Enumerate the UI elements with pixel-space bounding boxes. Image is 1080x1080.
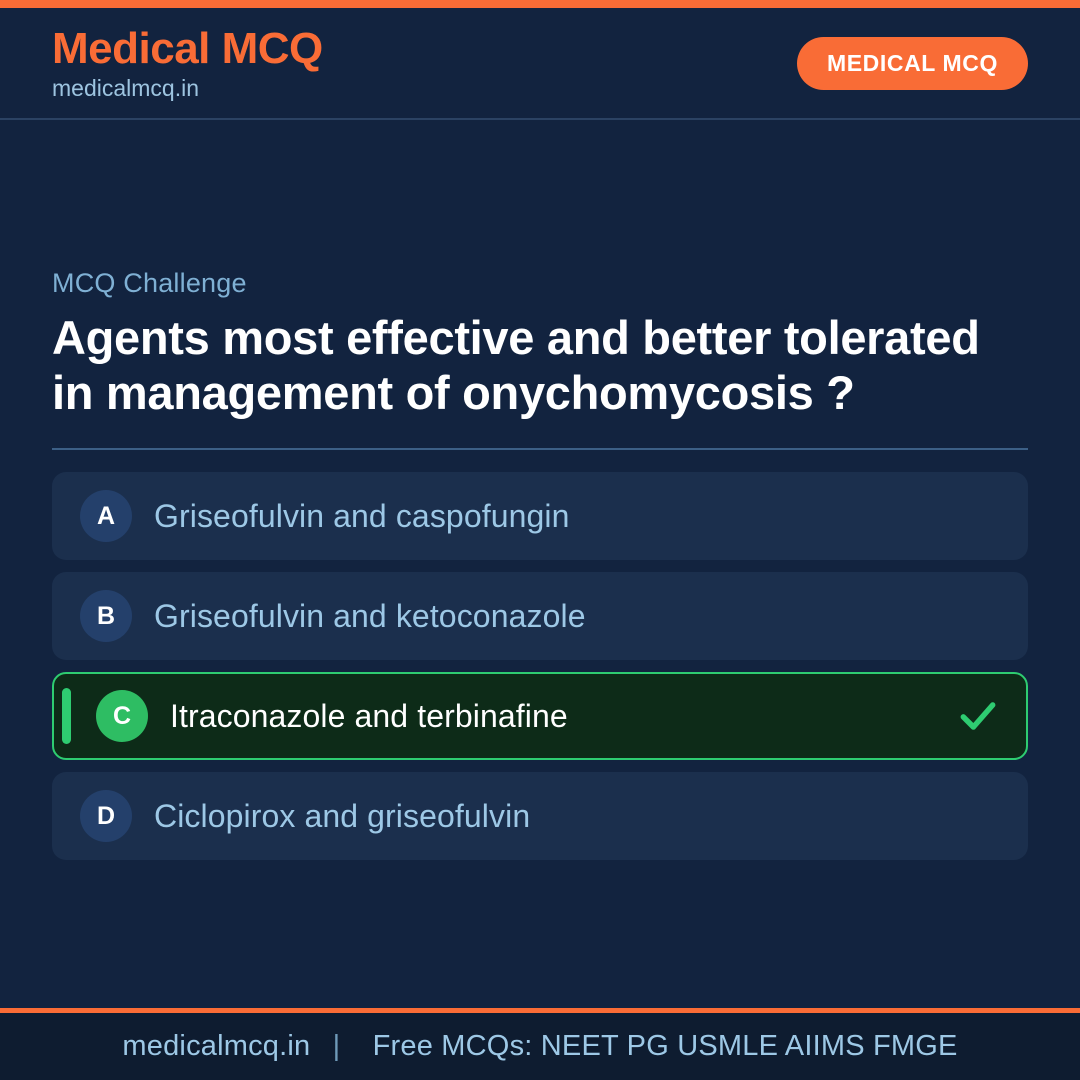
option-b-label: Griseofulvin and ketoconazole bbox=[154, 598, 1000, 635]
brand-title: Medical MCQ bbox=[52, 27, 323, 71]
mcq-card: Medical MCQ medicalmcq.in MEDICAL MCQ MC… bbox=[0, 0, 1080, 1080]
footer-tagline: Free MCQs: NEET PG USMLE AIIMS FMGE bbox=[363, 1030, 958, 1062]
top-spacer bbox=[52, 120, 1028, 268]
footer-site: medicalmcq.in bbox=[122, 1030, 310, 1062]
eyebrow-label: MCQ Challenge bbox=[52, 268, 1028, 299]
option-d-letter: D bbox=[80, 790, 132, 842]
option-a-letter: A bbox=[80, 490, 132, 542]
brand-badge: MEDICAL MCQ bbox=[797, 37, 1028, 90]
option-a-label: Griseofulvin and caspofungin bbox=[154, 498, 1000, 535]
footer-separator: | bbox=[319, 1030, 355, 1062]
option-b[interactable]: B Griseofulvin and ketoconazole bbox=[52, 572, 1028, 660]
option-c-letter: C bbox=[96, 690, 148, 742]
question-text: Agents most effective and better tolerat… bbox=[52, 311, 1028, 420]
header-bar: Medical MCQ medicalmcq.in MEDICAL MCQ bbox=[0, 8, 1080, 120]
question-divider bbox=[52, 448, 1028, 450]
option-a[interactable]: A Griseofulvin and caspofungin bbox=[52, 472, 1028, 560]
brand-subtitle: medicalmcq.in bbox=[52, 77, 323, 100]
correct-accent-bar bbox=[62, 688, 71, 744]
option-b-letter: B bbox=[80, 590, 132, 642]
option-c-label: Itraconazole and terbinafine bbox=[170, 698, 956, 735]
option-d-label: Ciclopirox and griseofulvin bbox=[154, 798, 1000, 835]
option-c[interactable]: C Itraconazole and terbinafine bbox=[52, 672, 1028, 760]
main-content: MCQ Challenge Agents most effective and … bbox=[0, 120, 1080, 1008]
options-list: A Griseofulvin and caspofungin B Griseof… bbox=[52, 472, 1028, 860]
option-d[interactable]: D Ciclopirox and griseofulvin bbox=[52, 772, 1028, 860]
footer-content: medicalmcq.in | Free MCQs: NEET PG USMLE… bbox=[122, 1030, 957, 1063]
check-icon bbox=[956, 694, 1000, 738]
footer-bar: medicalmcq.in | Free MCQs: NEET PG USMLE… bbox=[0, 1008, 1080, 1080]
brand: Medical MCQ medicalmcq.in bbox=[52, 27, 323, 100]
top-accent-strip bbox=[0, 0, 1080, 8]
